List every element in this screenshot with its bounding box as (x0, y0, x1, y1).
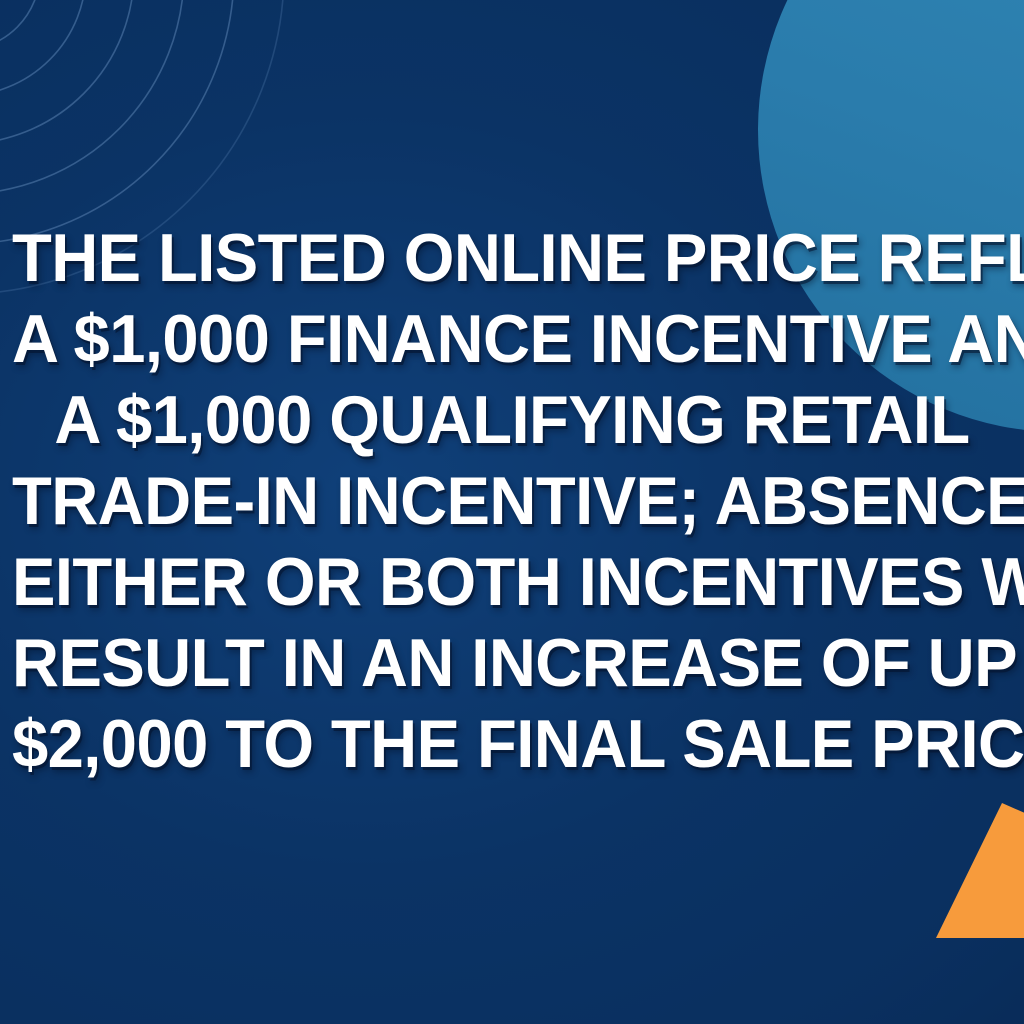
headline-line-6: RESULT IN AN INCREASE OF UP TO (12, 623, 1012, 704)
headline-line-2: A $1,000 FINANCE INCENTIVE AND (12, 299, 1012, 380)
headline-line-3: A $1,000 QUALIFYING RETAIL (12, 380, 1012, 461)
headline-line-5: EITHER OR BOTH INCENTIVES WILL (12, 542, 1012, 623)
headline-line-1: THE LISTED ONLINE PRICE REFLECTS (12, 218, 1012, 299)
headline-line-4: TRADE-IN INCENTIVE; ABSENCE OF (12, 461, 1012, 542)
disclaimer-headline: THE LISTED ONLINE PRICE REFLECTS A $1,00… (0, 218, 1024, 785)
disclaimer-graphic: THE LISTED ONLINE PRICE REFLECTS A $1,00… (0, 0, 1024, 1024)
headline-line-7: $2,000 TO THE FINAL SALE PRICE. (12, 704, 1012, 785)
